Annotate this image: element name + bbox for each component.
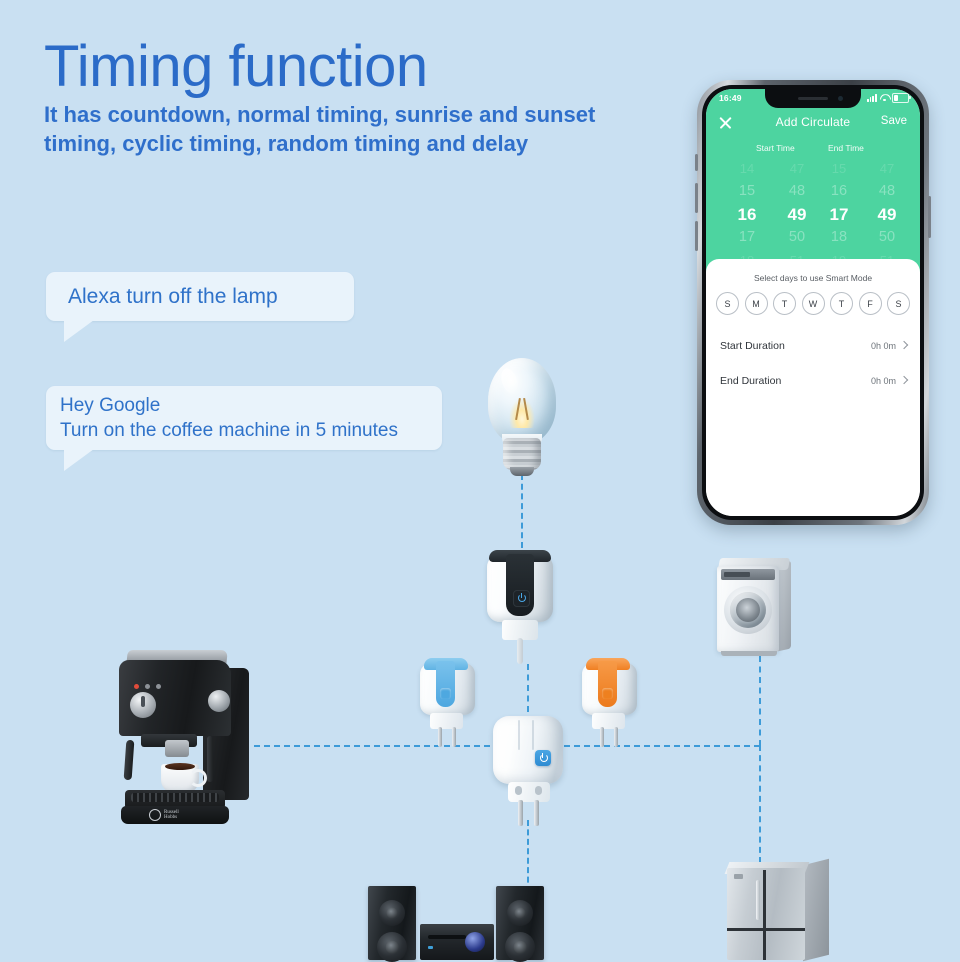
end-time-header: End Time xyxy=(828,143,864,153)
washer-control-panel xyxy=(721,569,775,580)
wheel-row[interactable]: 16 xyxy=(816,180,862,203)
audio-receiver xyxy=(420,924,494,960)
receiver-volume-dial[interactable] xyxy=(465,932,485,952)
wheel-row[interactable]: 48 xyxy=(864,180,910,203)
end-hour-wheel[interactable]: 15 16 17 18 19 xyxy=(816,157,862,272)
status-bar: 16:49 xyxy=(706,89,920,108)
signal-bars-icon xyxy=(867,94,877,102)
speaker-left xyxy=(368,886,416,960)
coffee-machine-selector-knob[interactable] xyxy=(130,692,156,718)
wheel-row-selected[interactable]: 49 xyxy=(864,203,910,226)
plug-pin xyxy=(438,727,442,747)
subtitle-line-1: It has countdown, normal timing, sunrise… xyxy=(44,100,684,129)
status-bar-time: 16:49 xyxy=(719,93,742,103)
phone-power-button[interactable] xyxy=(928,196,931,238)
indicator-led-red xyxy=(134,684,139,689)
phone-volume-down-button[interactable] xyxy=(695,221,698,251)
coffee-machine-steam-knob[interactable] xyxy=(208,690,230,712)
start-duration-value: 0h 0m xyxy=(871,341,896,351)
coffee-liquid xyxy=(165,763,195,770)
speaker-tweeter xyxy=(507,900,533,926)
coffee-machine-steam-wand xyxy=(124,740,135,780)
chevron-right-icon xyxy=(900,341,908,349)
connector-fridge-down xyxy=(759,745,761,863)
phone-volume-up-button[interactable] xyxy=(695,183,698,213)
plug-socket-hole xyxy=(535,786,542,795)
plug-skirt xyxy=(430,713,463,729)
wheel-row[interactable]: 48 xyxy=(774,180,820,203)
end-duration-label: End Duration xyxy=(720,375,781,387)
time-picker[interactable]: 14 15 16 17 18 47 48 49 50 51 15 xyxy=(706,157,920,273)
brand-line-2: Hobbs xyxy=(164,815,177,820)
speaker-woofer xyxy=(377,932,407,962)
smart-mode-hint: Select days to use Smart Mode xyxy=(706,273,920,283)
connector-washer-down xyxy=(759,656,761,746)
bulb-screw-base xyxy=(503,438,541,470)
plug-pin xyxy=(614,727,618,747)
fridge-side-panel xyxy=(803,859,829,961)
speech-bubble-google-line1: Hey Google xyxy=(60,393,442,418)
indicator-led xyxy=(156,684,161,689)
connector-plug-black-down xyxy=(527,664,529,712)
plug-ridge xyxy=(532,720,534,750)
light-bulb-icon xyxy=(482,358,562,488)
connector-plug-white-down xyxy=(527,820,529,892)
day-toggle-tue[interactable]: T xyxy=(773,292,796,315)
plug-cord xyxy=(517,638,523,664)
power-button-icon[interactable] xyxy=(513,590,530,607)
fridge-brand-badge xyxy=(734,874,743,879)
page-title: Timing function xyxy=(44,38,684,96)
start-duration-label: Start Duration xyxy=(720,340,785,352)
speech-bubble-alexa: Alexa turn off the lamp xyxy=(46,272,354,321)
day-selector[interactable]: S M T W T F S xyxy=(716,292,910,315)
refrigerator-icon xyxy=(723,858,835,960)
smart-plug-white-icon xyxy=(488,706,568,826)
indicator-led xyxy=(145,684,150,689)
fridge-door-seam-horizontal xyxy=(727,928,805,931)
fridge-handle xyxy=(756,880,760,920)
start-minute-wheel[interactable]: 47 48 49 50 51 xyxy=(774,157,820,272)
plug-pin xyxy=(600,727,604,747)
washer-base xyxy=(721,651,777,656)
smart-mode-sheet: Select days to use Smart Mode S M T W T … xyxy=(706,259,920,516)
brand-line-1: Russell xyxy=(164,810,179,815)
power-button-icon[interactable] xyxy=(535,750,551,766)
coffee-machine-side-tube xyxy=(207,736,213,782)
speaker-woofer xyxy=(505,932,535,962)
picker-column-headers: Start Time End Time xyxy=(706,143,920,157)
battery-icon xyxy=(892,93,909,103)
end-duration-value: 0h 0m xyxy=(871,376,896,386)
smart-plug-orange-icon xyxy=(578,655,644,747)
plug-ridge xyxy=(518,720,520,750)
start-time-header: Start Time xyxy=(756,143,795,153)
page-subtitle: It has countdown, normal timing, sunrise… xyxy=(44,100,684,158)
speech-bubble-alexa-text: Alexa turn off the lamp xyxy=(68,285,278,309)
audio-system-icon xyxy=(368,884,560,960)
plug-skirt xyxy=(502,620,538,640)
end-minute-wheel[interactable]: 47 48 49 50 51 xyxy=(864,157,910,272)
coffee-machine-drip-grill xyxy=(131,793,219,802)
wheel-row[interactable]: 15 xyxy=(724,180,770,203)
plug-pin xyxy=(452,727,456,747)
speaker-tweeter xyxy=(379,900,405,926)
washer-drum xyxy=(736,598,760,622)
brand-name: Russell Hobbs xyxy=(164,810,179,821)
phone-bezel: 16:49 Add Circulate Save xyxy=(702,85,924,520)
wheel-row[interactable]: 15 xyxy=(816,157,862,180)
plug-pin xyxy=(534,800,539,826)
coffee-machine-icon: Russell Hobbs xyxy=(103,648,263,828)
wheel-row[interactable]: 50 xyxy=(774,226,820,249)
speech-bubble-google: Hey Google Turn on the coffee machine in… xyxy=(46,386,442,450)
wheel-row[interactable]: 14 xyxy=(724,157,770,180)
phone-silent-switch[interactable] xyxy=(695,154,698,171)
speech-bubble-google-line2: Turn on the coffee machine in 5 minutes xyxy=(60,418,442,443)
app-bar: Add Circulate Save xyxy=(706,111,920,139)
plug-face-panel xyxy=(436,661,455,707)
wheel-row[interactable]: 17 xyxy=(724,226,770,249)
wheel-row[interactable]: 47 xyxy=(774,157,820,180)
receiver-led-icon xyxy=(428,946,433,949)
day-toggle-thu[interactable]: T xyxy=(830,292,853,315)
wheel-row[interactable]: 50 xyxy=(864,226,910,249)
plug-skirt xyxy=(592,713,625,729)
day-toggle-sun[interactable]: S xyxy=(716,292,739,315)
plug-body xyxy=(493,716,563,784)
power-button-icon[interactable] xyxy=(602,688,613,699)
disc-slot xyxy=(428,935,466,939)
bulb-contact-tip xyxy=(510,467,534,476)
brand-mark-icon xyxy=(149,809,161,821)
save-button[interactable]: Save xyxy=(881,115,907,127)
power-button-icon[interactable] xyxy=(440,688,451,699)
wheel-row[interactable]: 47 xyxy=(864,157,910,180)
phone-screen[interactable]: 16:49 Add Circulate Save xyxy=(706,89,920,516)
speaker-right xyxy=(496,886,544,960)
plug-socket-hole xyxy=(515,786,522,795)
wheel-row-selected[interactable]: 17 xyxy=(816,203,862,226)
end-duration-row[interactable]: End Duration 0h 0m xyxy=(720,367,907,397)
subtitle-line-2: timing, cyclic timing, random timing and… xyxy=(44,129,684,158)
washer-side-panel xyxy=(777,561,791,652)
fridge-body xyxy=(727,868,805,960)
start-hour-wheel[interactable]: 14 15 16 17 18 xyxy=(724,157,770,272)
coffee-machine-portafilter xyxy=(165,740,189,757)
coffee-machine-brand-logo: Russell Hobbs xyxy=(149,809,191,821)
smart-plug-black-icon xyxy=(480,546,564,664)
fridge-door-seam-vertical xyxy=(763,870,766,960)
washing-machine-icon xyxy=(713,558,795,658)
wheel-row[interactable]: 18 xyxy=(816,226,862,249)
day-toggle-wed[interactable]: W xyxy=(802,292,825,315)
day-toggle-sat[interactable]: S xyxy=(887,292,910,315)
plug-face-panel xyxy=(598,661,617,707)
plug-pin xyxy=(518,800,523,826)
poster-canvas: Timing function It has countdown, normal… xyxy=(0,0,960,960)
smart-plug-blue-icon xyxy=(416,655,482,747)
day-toggle-mon[interactable]: M xyxy=(745,292,768,315)
day-toggle-fri[interactable]: F xyxy=(859,292,882,315)
chevron-right-icon xyxy=(900,376,908,384)
wheel-row-selected[interactable]: 49 xyxy=(774,203,820,226)
start-duration-row[interactable]: Start Duration 0h 0m xyxy=(720,332,907,362)
wheel-row-selected[interactable]: 16 xyxy=(724,203,770,226)
bulb-filament xyxy=(509,398,535,428)
smartphone-mockup: 16:49 Add Circulate Save xyxy=(697,80,929,525)
wifi-icon xyxy=(880,94,889,101)
status-bar-indicators xyxy=(867,93,909,103)
